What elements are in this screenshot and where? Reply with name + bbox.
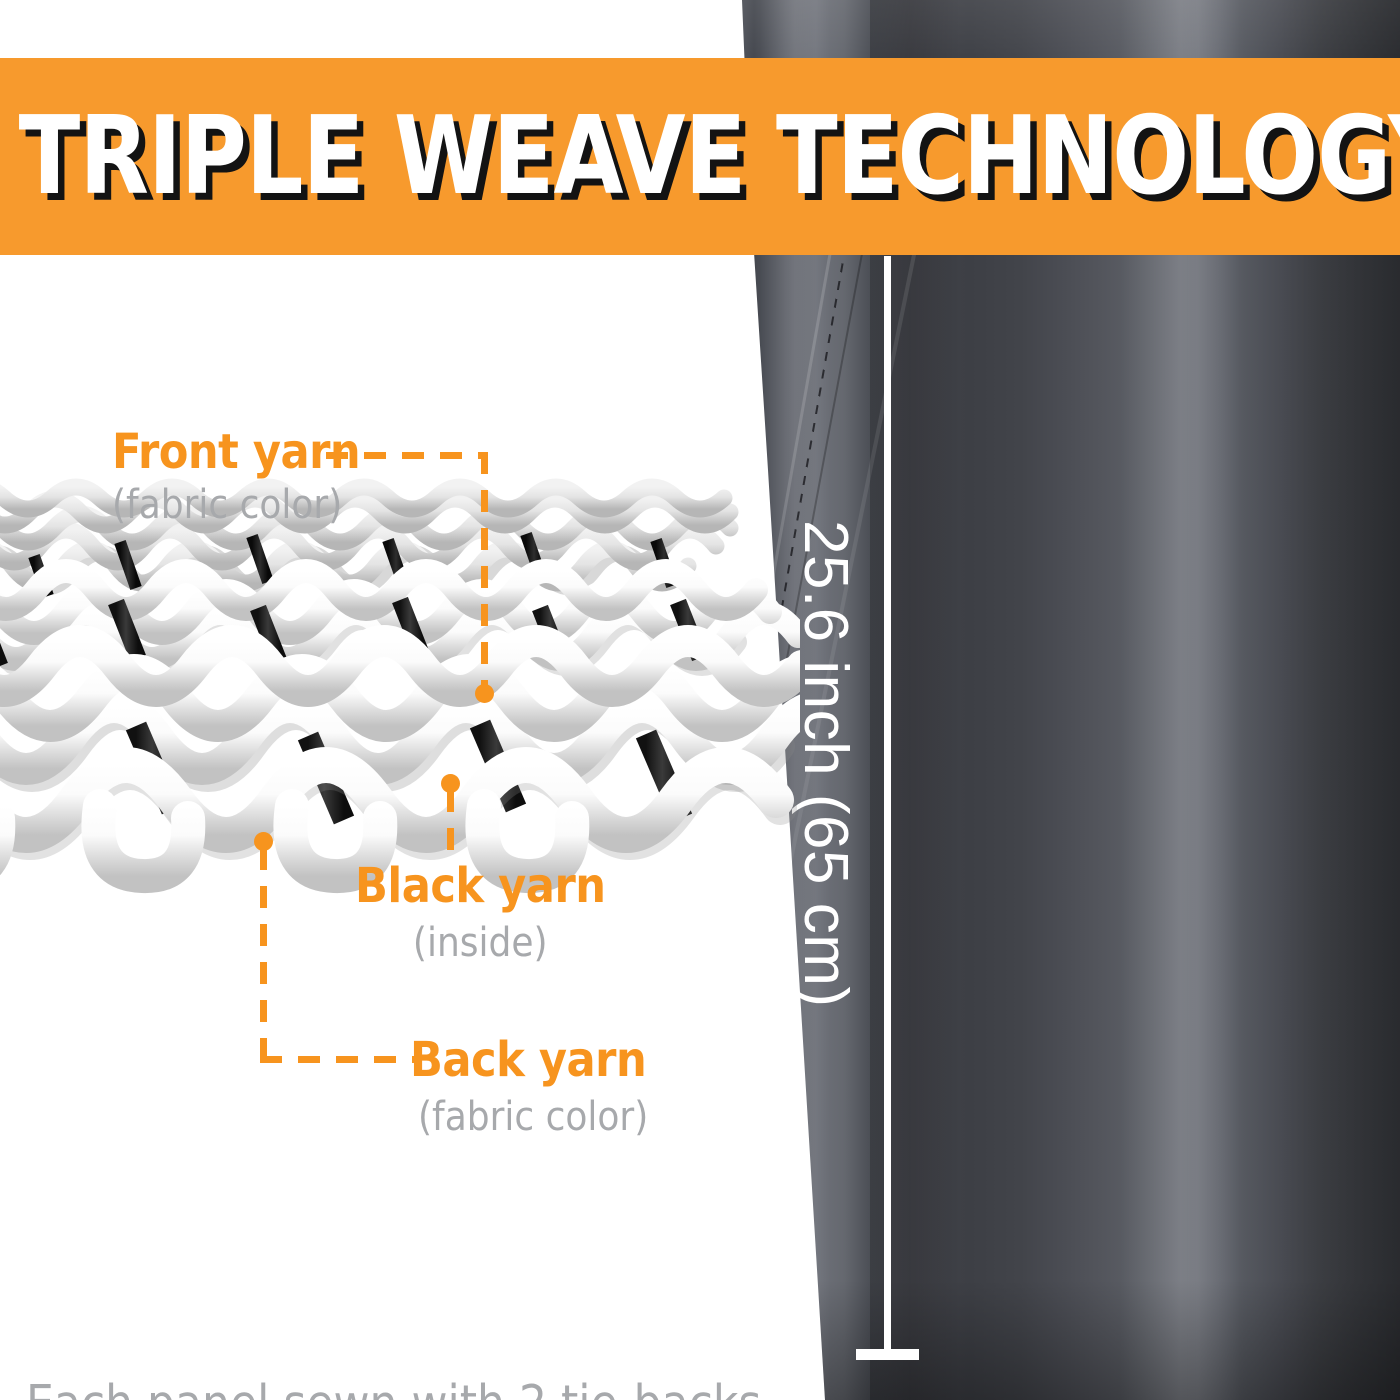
measurement-line <box>884 256 891 1356</box>
callout-black-yarn-title: Black yarn <box>355 858 606 914</box>
black-yarn-leader-vertical <box>447 790 454 862</box>
front-yarn-leader-vertical <box>481 452 488 698</box>
weave-svg <box>0 470 800 910</box>
callout-back-yarn-title: Back yarn <box>410 1032 648 1088</box>
weave-row-far <box>0 487 730 587</box>
callout-black-yarn-subtitle: (inside) <box>355 920 606 966</box>
callout-back-yarn: Back yarn (fabric color) <box>410 1032 648 1140</box>
measurement-label: 25.6 inch (65 cm) <box>790 520 861 1008</box>
page-title: TRIPLE WEAVE TECHNOLOGY <box>0 103 1400 211</box>
callout-black-yarn: Black yarn (inside) <box>355 858 606 966</box>
woven-mesh-illustration <box>0 470 800 910</box>
bottom-notes: Each panel sewn with 2 tie-backs A set o… <box>26 1248 761 1400</box>
callout-front-yarn-title: Front yarn <box>112 424 360 480</box>
callout-front-yarn: Front yarn (fabric color) <box>112 424 360 528</box>
callout-back-yarn-subtitle: (fabric color) <box>418 1094 648 1140</box>
title-banner: TRIPLE WEAVE TECHNOLOGY <box>0 58 1400 255</box>
bottom-note-line-1: Each panel sewn with 2 tie-backs <box>26 1373 761 1400</box>
back-yarn-leader-vertical <box>260 848 267 1060</box>
curtain-bottom-shadow <box>720 1280 1400 1400</box>
infographic-canvas: 25.6 inch (65 cm) TRIPLE WEAVE TECHNOLOG… <box>0 0 1400 1400</box>
measurement-end-cap <box>856 1349 919 1360</box>
back-yarn-leader-horizontal <box>260 1056 418 1063</box>
callout-front-yarn-subtitle: (fabric color) <box>112 482 360 528</box>
front-yarn-anchor-dot <box>475 684 494 703</box>
